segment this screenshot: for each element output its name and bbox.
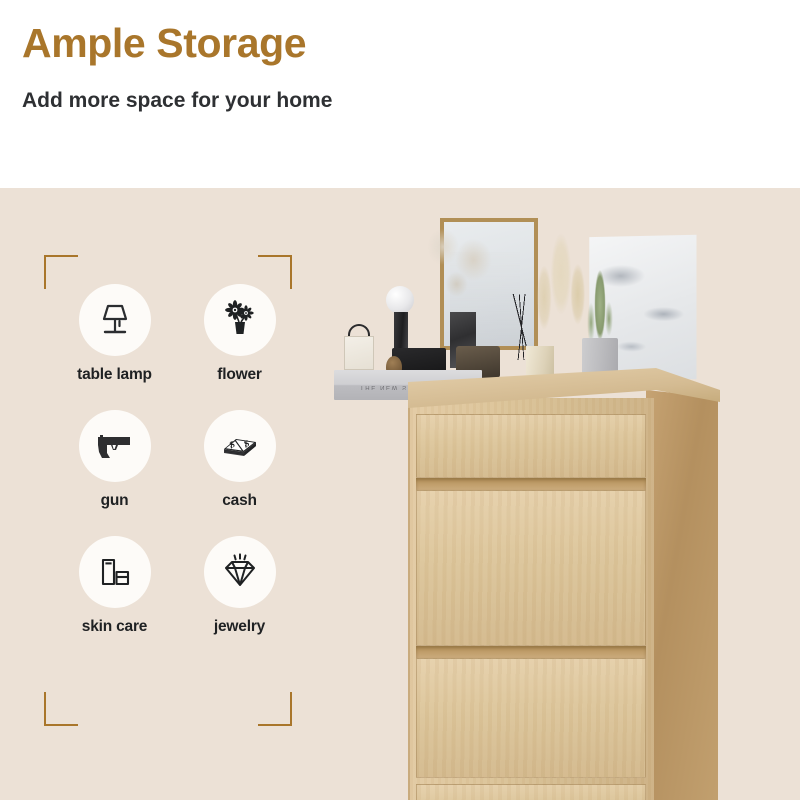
drawer-front-2 xyxy=(416,490,646,646)
gun-icon xyxy=(94,426,136,466)
feature-item-skin-care: skin care xyxy=(62,536,167,636)
icon-badge xyxy=(79,284,151,356)
dried-flowers-decor xyxy=(418,216,502,326)
icon-badge xyxy=(204,536,276,608)
icon-badge xyxy=(79,410,151,482)
desk-clock-decor xyxy=(344,336,374,370)
drawer-handle-gap xyxy=(416,478,646,490)
nightstand-product xyxy=(408,368,726,800)
feature-label: flower xyxy=(217,366,261,384)
feature-grid: table lamp xyxy=(62,284,292,636)
corner-bracket-bottom-left xyxy=(44,692,78,726)
cash-stack-icon: S S xyxy=(219,426,261,466)
feature-label: table lamp xyxy=(77,366,152,384)
page-title: Ample Storage xyxy=(22,22,800,65)
dresser-front-body xyxy=(408,398,654,800)
skin-care-icon xyxy=(94,552,136,592)
infographic-page: Ample Storage Add more space for your ho… xyxy=(0,0,800,800)
drawer-front-1 xyxy=(416,414,646,478)
table-lamp-icon xyxy=(95,300,135,340)
icon-badge xyxy=(79,536,151,608)
drawer-handle-gap xyxy=(416,646,646,658)
feature-item-cash: S S xyxy=(187,410,292,510)
header-section: Ample Storage Add more space for your ho… xyxy=(0,0,800,188)
feature-item-jewelry: jewelry xyxy=(187,536,292,636)
diamond-icon xyxy=(219,552,261,592)
drawer-front-3 xyxy=(416,658,646,778)
feature-item-flower: flower xyxy=(187,284,292,384)
globe-table-lamp-decor xyxy=(386,286,414,314)
content-panel: table lamp xyxy=(0,188,800,800)
feature-label: skin care xyxy=(82,618,147,636)
flower-vase-icon xyxy=(220,300,260,340)
feature-item-gun: gun xyxy=(62,410,167,510)
feature-label: cash xyxy=(222,492,257,510)
feature-label: gun xyxy=(101,492,129,510)
feature-label: jewelry xyxy=(214,618,265,636)
icon-badge xyxy=(204,284,276,356)
drawer-front-4 xyxy=(416,784,646,800)
corner-bracket-bottom-right xyxy=(258,692,292,726)
icon-badge: S S xyxy=(204,410,276,482)
product-photo: THE NEW STORE xyxy=(330,188,800,800)
dresser-side-panel xyxy=(646,390,718,800)
page-subtitle: Add more space for your home xyxy=(22,85,352,117)
feature-item-table-lamp: table lamp xyxy=(62,284,167,384)
